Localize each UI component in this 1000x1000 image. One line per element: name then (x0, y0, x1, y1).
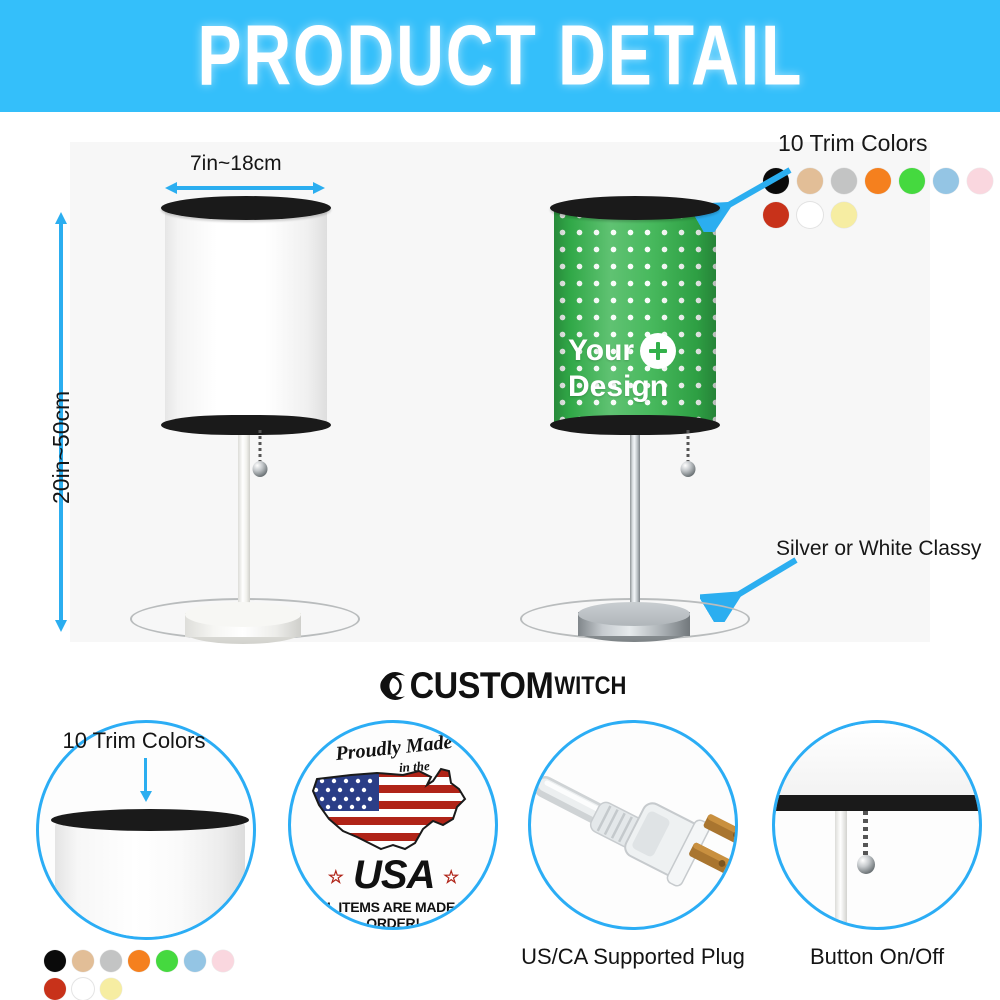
trim-colors-swatch-row-bottom (44, 950, 259, 1000)
logo-sub-text: WITCH (554, 671, 626, 701)
base-top (185, 602, 301, 627)
usa-tagline: ALL ITEMS ARE MADE TO ORDER! (291, 899, 495, 930)
swatch-white[interactable] (72, 978, 94, 1000)
swatch-white[interactable] (797, 202, 823, 228)
lamp-base-white (185, 602, 301, 644)
arrow-head-bottom (55, 620, 67, 632)
swatch-gray[interactable] (831, 168, 857, 194)
lamp-pole-silver (630, 430, 640, 620)
panel-made-in-usa: Proudly Made in the (268, 712, 518, 1000)
panel-trim-heading: 10 Trim Colors (24, 728, 244, 754)
lamp-pole-white (238, 430, 250, 620)
usa-map-flag-icon (307, 761, 485, 861)
your-design-placeholder: Your Design (568, 333, 676, 402)
brand-logo: CUSTOM WITCH (0, 662, 1000, 710)
shade-trim-closeup (51, 809, 249, 831)
swatch-tan[interactable] (72, 950, 94, 972)
logo-sub-wrap: WITCH (554, 673, 626, 699)
width-dimension-arrow (165, 182, 325, 192)
usa-country-text: ☆ USA ☆ (291, 853, 495, 898)
chain-cord (687, 430, 690, 464)
swatch-black[interactable] (44, 950, 66, 972)
trim-pointer-arrow (140, 758, 152, 802)
arrow-bar (144, 758, 147, 793)
main-product-stage: 7in~18cm 20in~50cm (0, 112, 1000, 660)
lamp-shade-white (165, 207, 327, 427)
shade-bottom-closeup (772, 723, 982, 801)
swatch-green[interactable] (899, 168, 925, 194)
pull-chain-silver[interactable] (680, 430, 696, 464)
lamp-base-silver (578, 602, 690, 642)
trim-colors-callout-label: 10 Trim Colors (778, 130, 928, 157)
pull-chain-ball-closeup[interactable] (857, 855, 875, 874)
swatch-orange[interactable] (128, 950, 150, 972)
swatch-pink[interactable] (967, 168, 993, 194)
arrow-bar (174, 186, 316, 190)
panel-trim-colors: 10 Trim Colors (18, 712, 268, 1000)
swatch-light-blue[interactable] (933, 168, 959, 194)
trim-callout-arrow (690, 162, 800, 232)
usa-circle: Proudly Made in the (288, 720, 498, 930)
chain-ball (253, 461, 268, 477)
switch-caption: Button On/Off (752, 944, 1000, 970)
page-header-banner: PRODUCT DETAIL (0, 0, 1000, 112)
design-line-2: Design (568, 373, 676, 402)
trim-bar-closeup (772, 795, 982, 811)
swatch-pink[interactable] (212, 950, 234, 972)
chain-ball (681, 461, 696, 477)
height-dimension-label: 20in~50cm (48, 391, 75, 504)
swatch-light-blue[interactable] (184, 950, 206, 972)
pull-chain-cord-closeup[interactable] (863, 811, 868, 859)
feature-panels: 10 Trim Colors (0, 712, 1000, 1000)
chain-cord (259, 430, 262, 464)
star-left-icon: ☆ (328, 867, 343, 887)
swatch-orange[interactable] (865, 168, 891, 194)
swatch-tan[interactable] (797, 168, 823, 194)
swatch-gray[interactable] (100, 950, 122, 972)
us-power-plug-icon (531, 723, 738, 930)
star-right-icon: ☆ (443, 867, 458, 887)
pull-chain-white[interactable] (252, 430, 268, 464)
usa-badge: Proudly Made in the (291, 723, 495, 927)
plus-icon (640, 333, 676, 369)
usa-label: USA (353, 853, 433, 897)
switch-circle (772, 720, 982, 930)
shade-trim-top (550, 196, 720, 220)
c-swirl-icon (374, 669, 408, 703)
shade-trim-bottom (161, 415, 331, 435)
page-title: PRODUCT DETAIL (197, 8, 803, 105)
design-line-1: Your (568, 333, 676, 369)
plug-circle (528, 720, 738, 930)
swatch-yellow[interactable] (100, 978, 122, 1000)
shade-trim-top (161, 196, 331, 220)
lamp-pole-closeup (835, 811, 847, 930)
base-top (578, 602, 690, 626)
arrow-head-down (140, 791, 152, 802)
swatch-red[interactable] (44, 978, 66, 1000)
width-dimension-label: 7in~18cm (190, 152, 282, 176)
panel-plug: US/CA Supported Plug (508, 712, 758, 1000)
panel-switch: Button On/Off (752, 712, 1000, 1000)
logo-main-text: CUSTOM (410, 665, 554, 707)
product-detail-page: PRODUCT DETAIL 7in~18cm 20in~50cm (0, 0, 1000, 1000)
lamp-shade-green: Your Design (554, 207, 716, 427)
design-word-design: Design (568, 373, 668, 402)
swatch-green[interactable] (156, 950, 178, 972)
shade-surface (165, 207, 327, 427)
shade-surface-closeup (55, 821, 245, 940)
arrow-head-right (313, 182, 325, 194)
plug-caption: US/CA Supported Plug (508, 944, 758, 970)
swatch-yellow[interactable] (831, 202, 857, 228)
design-word-your: Your (568, 337, 634, 366)
